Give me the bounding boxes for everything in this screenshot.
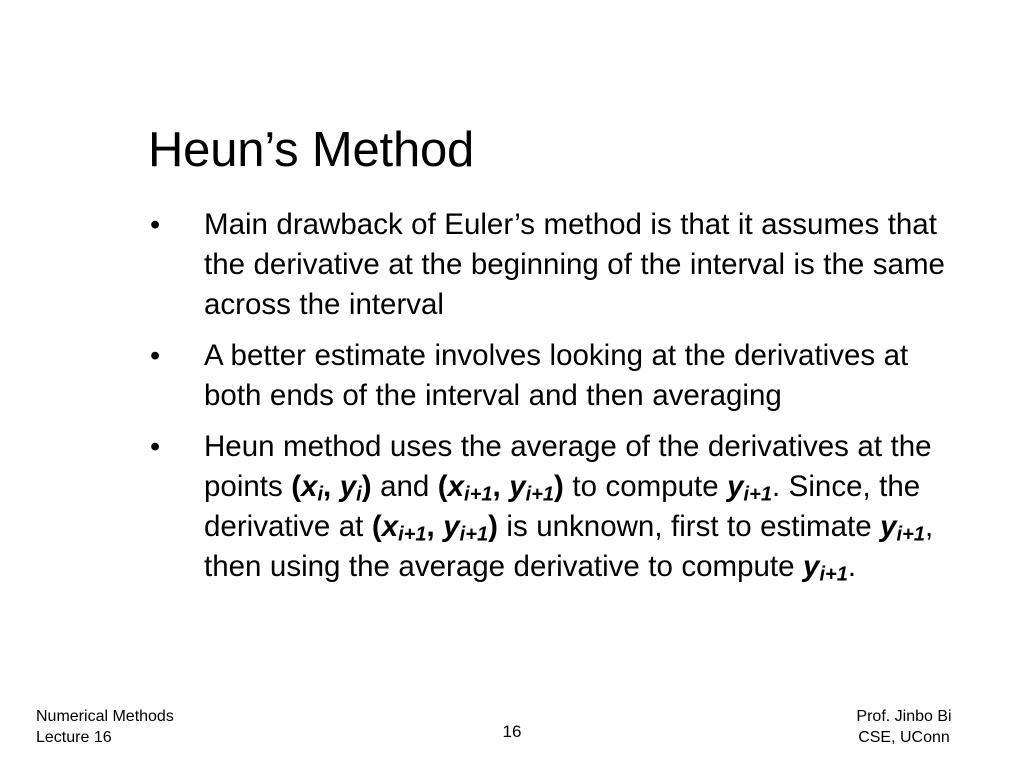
bullet-2-text: A better estimate involves looking at th… (204, 336, 956, 416)
math-var-base: x (301, 470, 317, 503)
bullet-point-icon: • (146, 427, 204, 467)
footer-instructor-name: Prof. Jinbo Bi (804, 706, 1004, 727)
text-segment: to compute (564, 470, 727, 503)
math-subscript: i+1 (897, 523, 925, 545)
bullet-point-icon: • (146, 205, 204, 245)
math-var-xi: xi (301, 470, 323, 503)
slide-page-number: 16 (462, 721, 562, 742)
math-comma: , (323, 470, 340, 503)
footer-course-name: Numerical Methods (36, 706, 174, 727)
slide-canvas: Heun’s Method • Main drawback of Euler’s… (0, 0, 1024, 768)
math-comma: , (492, 470, 509, 503)
math-paren-close: ) (554, 470, 564, 503)
math-var-base: y (803, 550, 819, 583)
math-subscript: i+1 (744, 483, 772, 505)
text-segment: . (848, 550, 856, 583)
math-var-yi1: yi+1 (803, 550, 848, 583)
math-var-base: y (509, 470, 525, 503)
footer-course-info: Numerical Methods Lecture 16 (36, 706, 174, 748)
math-var-yi: yi (340, 470, 362, 503)
math-subscript: i+1 (398, 523, 426, 545)
footer-institution: CSE, UConn (804, 727, 1004, 748)
math-var-xi1: xi+1 (448, 470, 493, 503)
math-var-yi1: yi+1 (880, 510, 925, 543)
footer-instructor-info: Prof. Jinbo Bi CSE, UConn (804, 706, 1004, 748)
math-subscript: i+1 (526, 483, 554, 505)
math-paren-close: ) (488, 510, 498, 543)
bullet-1-text: Main drawback of Euler’s method is that … (204, 205, 956, 325)
math-var-xi1: xi+1 (382, 510, 427, 543)
math-paren-close: ) (362, 470, 372, 503)
list-item: • A better estimate involves looking at … (146, 336, 956, 416)
math-var-base: y (340, 470, 356, 503)
math-subscript: i+1 (464, 483, 492, 505)
math-var-base: x (382, 510, 398, 543)
list-item: • Heun method uses the average of the de… (146, 427, 956, 587)
math-subscript: i+1 (819, 563, 847, 585)
math-var-yi1: yi+1 (443, 510, 488, 543)
bullet-3-text: Heun method uses the average of the deri… (204, 427, 956, 587)
list-item: • Main drawback of Euler’s method is tha… (146, 205, 956, 325)
math-paren-open: ( (372, 510, 382, 543)
math-var-base: y (727, 470, 743, 503)
math-comma: , (427, 510, 444, 543)
math-var-base: y (880, 510, 896, 543)
text-segment: is unknown, first to estimate (498, 510, 880, 543)
text-segment: and (372, 470, 438, 503)
bullet-list: • Main drawback of Euler’s method is tha… (146, 205, 956, 598)
math-subscript: i+1 (460, 523, 488, 545)
math-var-base: x (448, 470, 464, 503)
bullet-point-icon: • (146, 336, 204, 376)
math-var-yi1: yi+1 (727, 470, 772, 503)
math-var-yi1: yi+1 (509, 470, 554, 503)
page-title: Heun’s Method (148, 121, 474, 179)
math-var-base: y (443, 510, 459, 543)
math-paren-open: ( (438, 470, 448, 503)
math-paren-open: ( (291, 470, 301, 503)
footer-lecture-number: Lecture 16 (36, 727, 174, 748)
